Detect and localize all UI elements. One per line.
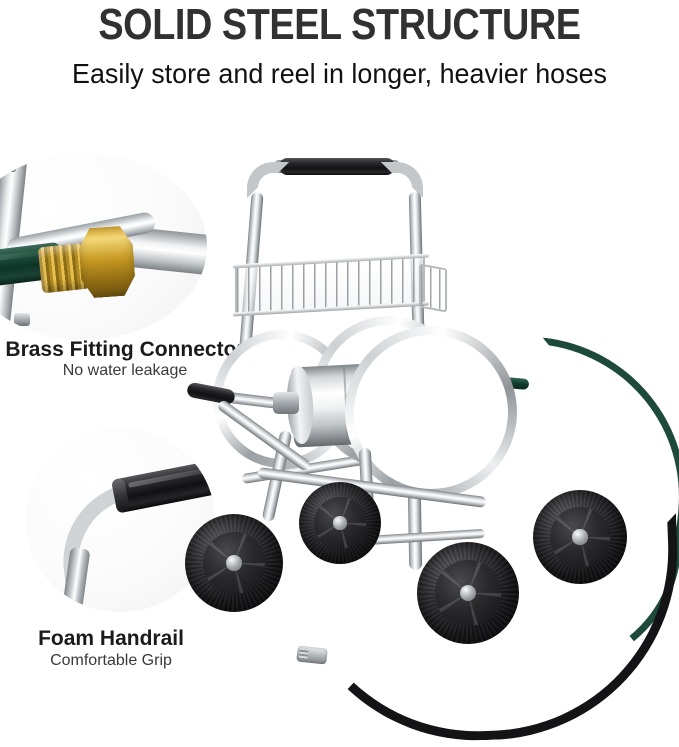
wire-storage-basket bbox=[235, 260, 425, 310]
hose-chrome-coupling bbox=[296, 645, 328, 664]
basket-end-panel bbox=[419, 264, 447, 313]
product-marketing-image: SOLID STEEL STRUCTURE Easily store and r… bbox=[0, 0, 679, 687]
callout-subtitle-foam: Comfortable Grip bbox=[0, 652, 222, 670]
frame-bolt-icon bbox=[0, 159, 16, 172]
page-title: SOLID STEEL STRUCTURE bbox=[48, 2, 632, 48]
wheel-rear-left bbox=[185, 514, 283, 612]
frame-bolt-icon bbox=[14, 313, 30, 326]
hose-reel-cart bbox=[195, 130, 679, 687]
axle-cap bbox=[226, 555, 242, 571]
callout-title-foam: Foam Handrail bbox=[0, 627, 222, 651]
handle-foam-grip bbox=[279, 158, 395, 175]
crank-hub bbox=[273, 392, 299, 414]
black-leader-hose bbox=[286, 513, 679, 746]
page-subtitle: Easily store and reel in longer, heavier… bbox=[14, 58, 666, 90]
brass-fitting-photo bbox=[0, 153, 207, 340]
foam-handrail-photo bbox=[25, 428, 215, 612]
